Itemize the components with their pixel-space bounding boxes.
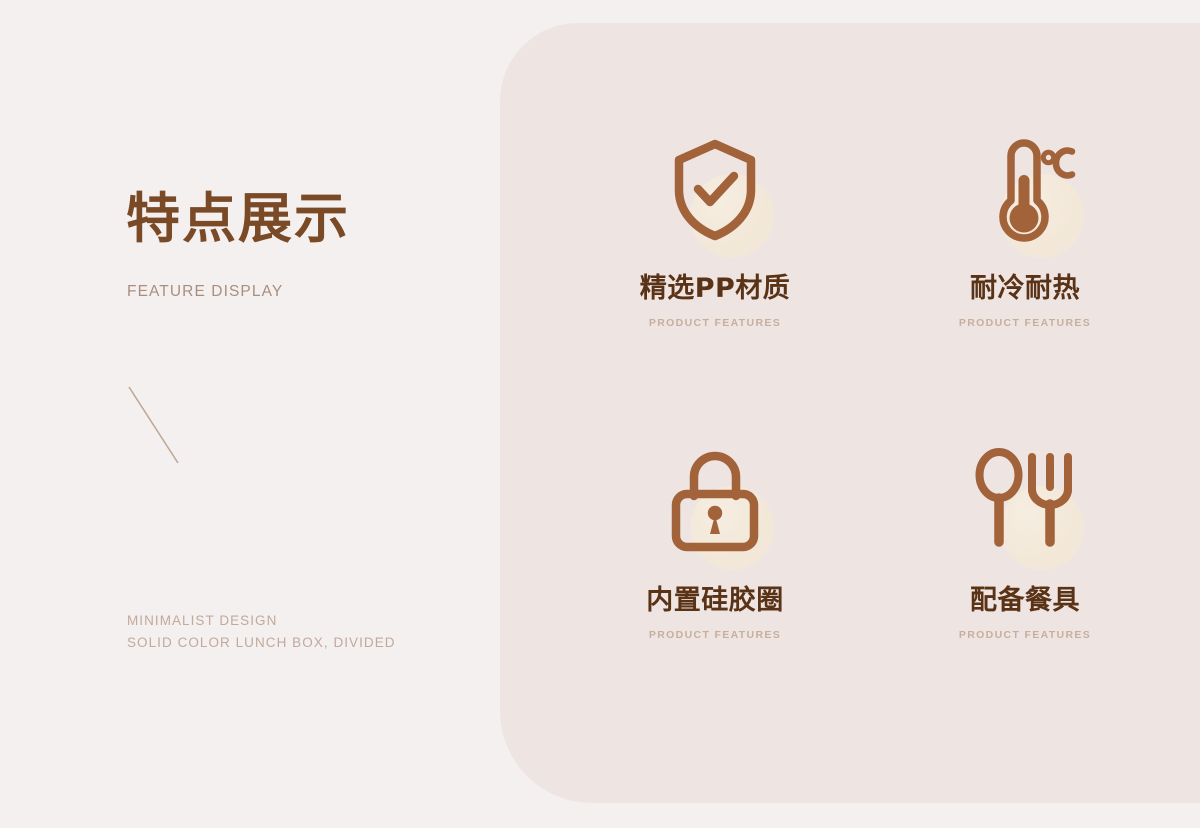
- feature-title: 精选PP材质: [640, 274, 791, 304]
- tagline-line-2: SOLID COLOR LUNCH BOX, DIVIDED: [127, 632, 396, 654]
- feature-grid: 精选PP材质 PRODUCT FEATURES 耐冷耐热: [560, 120, 1180, 740]
- page-subtitle: FEATURE DISPLAY: [127, 283, 283, 301]
- tagline-block: MINIMALIST DESIGN SOLID COLOR LUNCH BOX,…: [127, 610, 396, 654]
- page-title: 特点展示: [126, 189, 350, 248]
- feature-title: 配备餐具: [970, 586, 1080, 616]
- thermometer-celsius-icon: [969, 134, 1081, 246]
- tagline-line-1: MINIMALIST DESIGN: [127, 610, 396, 632]
- feature-item-seal-ring[interactable]: 内置硅胶圈 PRODUCT FEATURES: [560, 430, 870, 740]
- feature-item-cutlery[interactable]: 配备餐具 PRODUCT FEATURES: [870, 430, 1180, 740]
- feature-subtitle: PRODUCT FEATURES: [649, 317, 781, 329]
- diagonal-line-icon: [120, 378, 190, 473]
- feature-item-temperature[interactable]: 耐冷耐热 PRODUCT FEATURES: [870, 120, 1180, 430]
- icon-container: [950, 432, 1100, 572]
- left-intro-column: 特点展示 FEATURE DISPLAY MINIMALIST DESIGN S…: [0, 0, 500, 828]
- icon-container: [950, 120, 1100, 260]
- feature-item-material[interactable]: 精选PP材质 PRODUCT FEATURES: [560, 120, 870, 430]
- padlock-icon: [665, 449, 765, 555]
- icon-container: [640, 432, 790, 572]
- feature-subtitle: PRODUCT FEATURES: [959, 629, 1091, 641]
- feature-title: 耐冷耐热: [970, 274, 1080, 304]
- spoon-fork-icon: [970, 447, 1080, 557]
- icon-container: [640, 120, 790, 260]
- page-canvas: 特点展示 FEATURE DISPLAY MINIMALIST DESIGN S…: [0, 0, 1200, 828]
- feature-subtitle: PRODUCT FEATURES: [959, 317, 1091, 329]
- feature-title: 内置硅胶圈: [646, 586, 784, 616]
- feature-subtitle: PRODUCT FEATURES: [649, 629, 781, 641]
- shield-check-icon: [665, 136, 765, 244]
